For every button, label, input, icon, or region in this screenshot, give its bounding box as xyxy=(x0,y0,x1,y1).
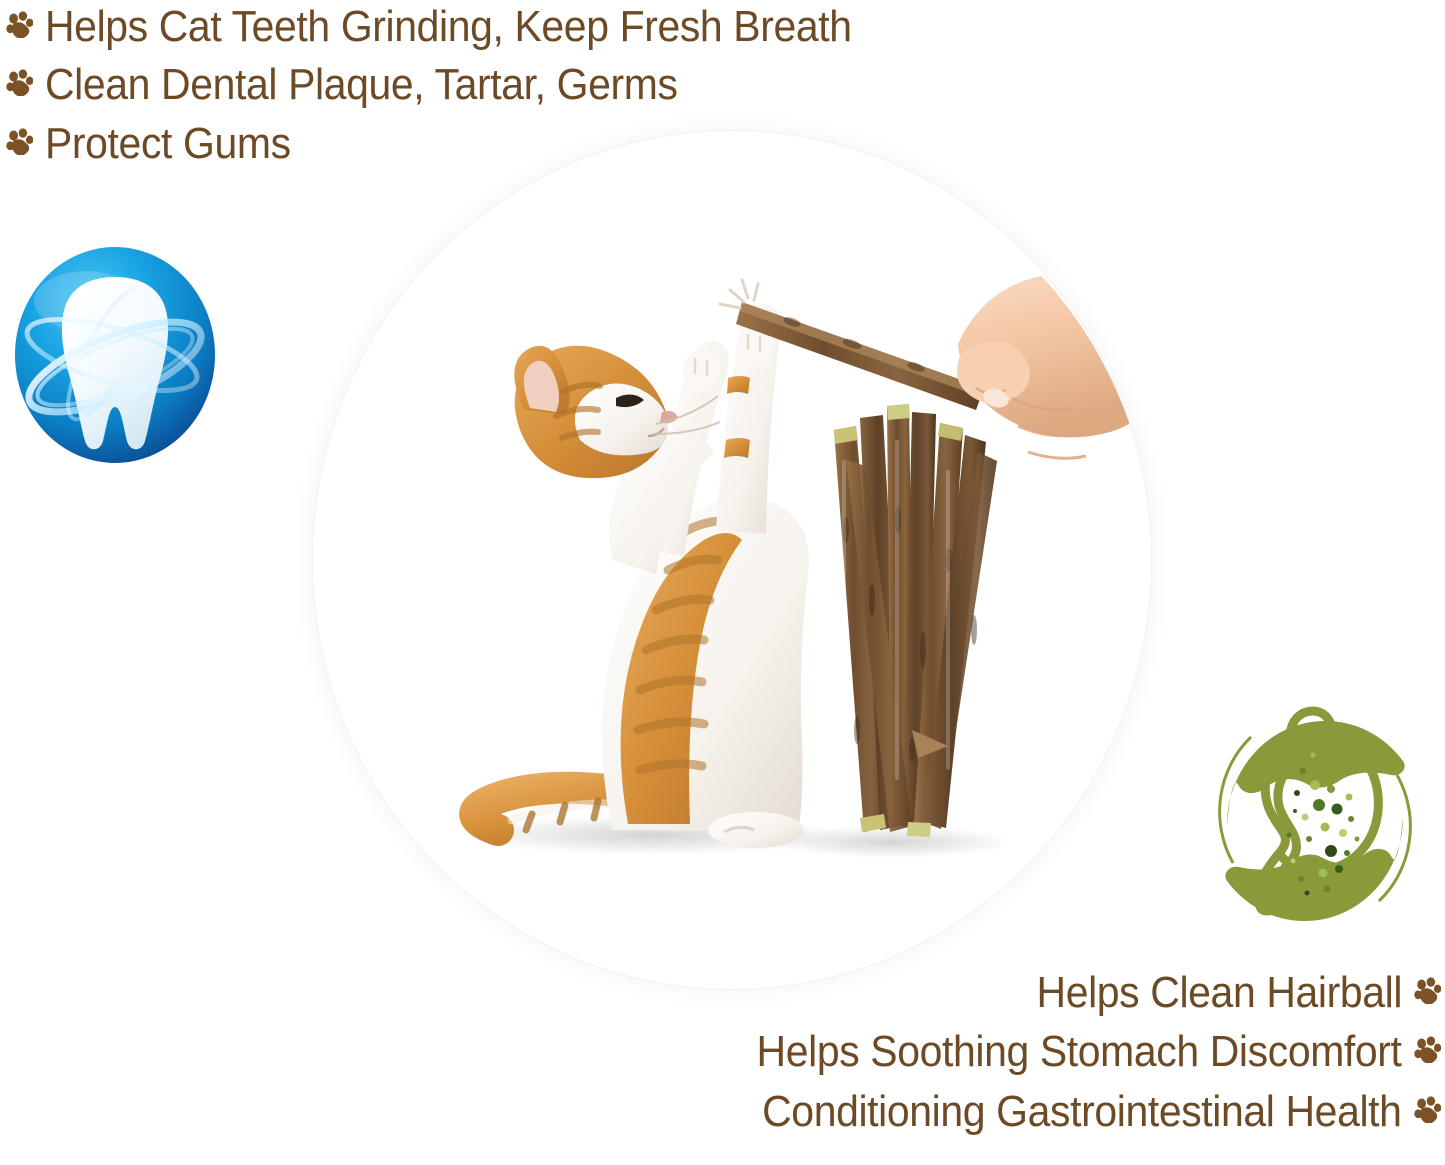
paw-print-icon xyxy=(1414,1096,1441,1123)
paw-print-icon xyxy=(1414,1036,1441,1063)
chew-sticks-bundle xyxy=(834,404,997,837)
benefit-item: Conditioning Gastrointestinal Health xyxy=(714,1087,1441,1136)
benefits-top-list: Helps Cat Teeth Grinding, Keep Fresh Bre… xyxy=(6,2,1126,177)
benefit-item: Helps Clean Hairball xyxy=(1009,968,1441,1017)
benefit-text: Helps Clean Hairball xyxy=(1036,968,1402,1017)
benefit-text: Helps Soothing Stomach Discomfort xyxy=(757,1027,1402,1076)
tooth-dental-icon xyxy=(12,243,218,468)
benefit-text: Helps Cat Teeth Grinding, Keep Fresh Bre… xyxy=(45,2,852,51)
benefit-item: Protect Gums xyxy=(6,119,1126,168)
paw-print-icon xyxy=(1414,977,1441,1004)
cat-figure xyxy=(475,304,809,848)
benefit-item: Helps Soothing Stomach Discomfort xyxy=(708,1027,1441,1076)
benefit-text: Protect Gums xyxy=(45,119,291,168)
paw-print-icon xyxy=(6,69,33,96)
benefit-text: Clean Dental Plaque, Tartar, Germs xyxy=(45,60,678,109)
paw-print-icon xyxy=(6,128,33,155)
hand-holding-chew-stick xyxy=(720,254,1152,458)
paw-print-icon xyxy=(6,11,33,38)
benefits-bottom-list: Helps Clean Hairball Helps Soothing Stom… xyxy=(441,968,1441,1146)
benefit-item: Helps Cat Teeth Grinding, Keep Fresh Bre… xyxy=(6,2,1126,51)
benefit-text: Conditioning Gastrointestinal Health xyxy=(763,1087,1402,1136)
stomach-digestive-health-icon xyxy=(1197,693,1433,946)
benefit-item: Clean Dental Plaque, Tartar, Germs xyxy=(6,60,1126,109)
cat-with-matatabi-sticks-photo xyxy=(312,130,1152,990)
